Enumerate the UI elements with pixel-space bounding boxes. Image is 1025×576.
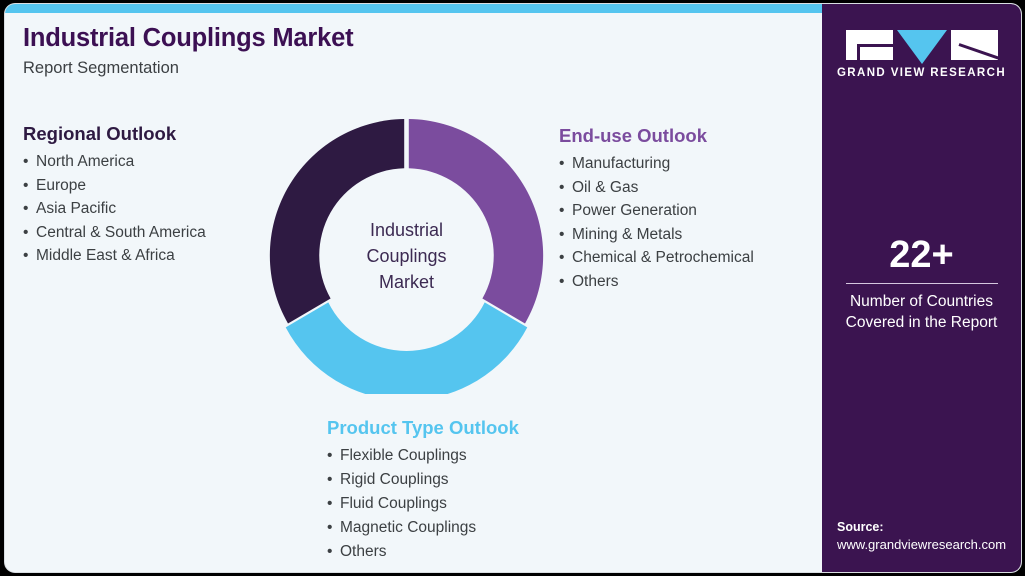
stat-label: Number of Countries Covered in the Repor…: [822, 291, 1021, 333]
infographic-card: Industrial Couplings Market Report Segme…: [5, 4, 1021, 572]
regional-outlook-list: North America Europe Asia Pacific Centra…: [23, 150, 206, 268]
list-item: Fluid Couplings: [327, 492, 519, 516]
stat-block: 22+ Number of Countries Covered in the R…: [822, 236, 1021, 333]
stat-label-line-1: Number of Countries: [822, 291, 1021, 312]
header: Industrial Couplings Market Report Segme…: [23, 24, 783, 79]
list-item: North America: [23, 150, 206, 174]
list-item: Power Generation: [559, 199, 754, 223]
list-item: Magnetic Couplings: [327, 516, 519, 540]
product-type-outlook-list: Flexible Couplings Rigid Couplings Fluid…: [327, 444, 519, 564]
list-item: Chemical & Petrochemical: [559, 246, 754, 270]
donut-segment-regional: [270, 119, 404, 324]
logo-g-icon: [846, 30, 893, 60]
list-item: Asia Pacific: [23, 197, 206, 221]
logo-v-triangle-icon: [897, 30, 947, 64]
source-label: Source:: [837, 518, 1021, 536]
enduse-outlook-section: End-use Outlook Manufacturing Oil & Gas …: [559, 124, 754, 293]
list-item: Others: [559, 270, 754, 294]
infographic-root: Industrial Couplings Market Report Segme…: [0, 0, 1025, 576]
list-item: Europe: [23, 174, 206, 198]
stat-label-line-2: Covered in the Report: [822, 312, 1021, 333]
logo-wordmark: GRAND VIEW RESEARCH: [822, 67, 1021, 79]
donut-chart: Industrial Couplings Market: [268, 117, 545, 394]
list-item: Central & South America: [23, 221, 206, 245]
donut-segment-enduse: [409, 119, 543, 324]
enduse-outlook-list: Manufacturing Oil & Gas Power Generation…: [559, 152, 754, 293]
stat-value: 22+: [822, 236, 1021, 274]
source-block: Source: www.grandviewresearch.com: [837, 518, 1021, 554]
list-item: Rigid Couplings: [327, 468, 519, 492]
list-item: Mining & Metals: [559, 223, 754, 247]
product-type-outlook-section: Product Type Outlook Flexible Couplings …: [327, 416, 519, 564]
donut-segment-product-type: [286, 302, 528, 394]
top-accent-bar: [5, 4, 822, 13]
list-item: Others: [327, 540, 519, 564]
brand-logo: GRAND VIEW RESEARCH: [822, 30, 1021, 79]
logo-r-icon: [951, 30, 998, 60]
page-title: Industrial Couplings Market: [23, 24, 783, 53]
stat-divider: [846, 283, 998, 284]
regional-outlook-section: Regional Outlook North America Europe As…: [23, 122, 206, 268]
product-type-outlook-title: Product Type Outlook: [327, 416, 519, 439]
list-item: Flexible Couplings: [327, 444, 519, 468]
donut-chart-svg: [268, 117, 545, 394]
enduse-outlook-title: End-use Outlook: [559, 124, 754, 147]
regional-outlook-title: Regional Outlook: [23, 122, 206, 145]
page-subtitle: Report Segmentation: [23, 59, 783, 79]
list-item: Oil & Gas: [559, 176, 754, 200]
list-item: Manufacturing: [559, 152, 754, 176]
list-item: Middle East & Africa: [23, 244, 206, 268]
side-panel: GRAND VIEW RESEARCH 22+ Number of Countr…: [822, 4, 1021, 572]
logo-marks: [822, 30, 1021, 60]
source-url[interactable]: www.grandviewresearch.com: [837, 536, 1021, 554]
